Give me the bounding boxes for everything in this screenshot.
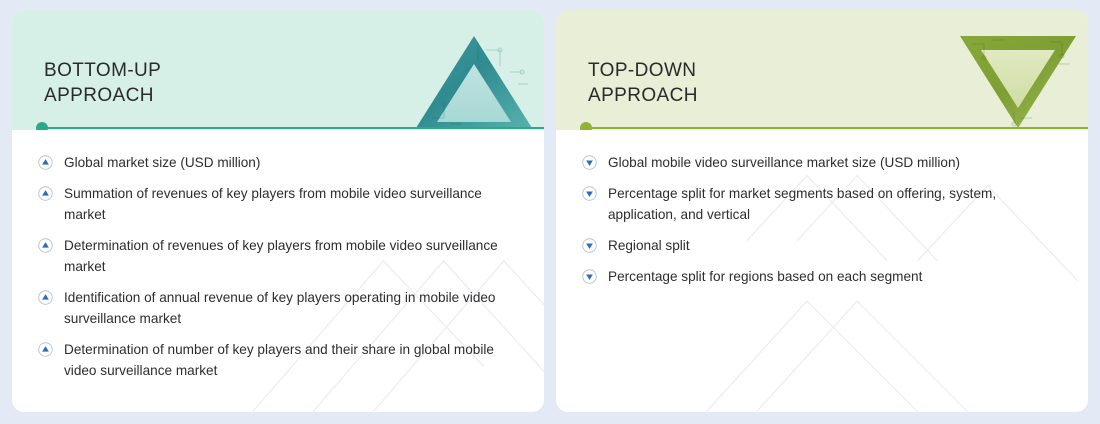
list-item: Determination of number of key players a…	[38, 339, 518, 381]
panel-bottom-up: BOTTOM-UP APPROACH Global market size (U…	[12, 10, 544, 412]
panel-title-top-down: TOP-DOWN APPROACH	[588, 58, 698, 108]
list-item-text: Regional split	[608, 235, 690, 256]
panel-top-down: TOP-DOWN APPROACH Global mobile video su…	[556, 10, 1088, 412]
panel-title-bottom-up: BOTTOM-UP APPROACH	[44, 58, 161, 108]
list-item-text: Global mobile video surveillance market …	[608, 152, 960, 173]
header-band-bottom-up: BOTTOM-UP APPROACH	[12, 10, 544, 130]
list-item: Determination of revenues of key players…	[38, 235, 518, 277]
list-item: Percentage split for market segments bas…	[582, 183, 1062, 225]
triangle-down-circle-icon	[582, 155, 597, 170]
list-item: Global market size (USD million)	[38, 152, 518, 173]
list-item: Regional split	[582, 235, 1062, 256]
triangle-up-circle-icon	[38, 155, 53, 170]
accent-rule-bottom-up	[36, 122, 544, 130]
header-band-top-down: TOP-DOWN APPROACH	[556, 10, 1088, 130]
triangle-up-circle-icon	[38, 290, 53, 305]
triangle-down-circle-icon	[582, 186, 597, 201]
accent-line	[592, 127, 1088, 129]
list-item: Summation of revenues of key players fro…	[38, 183, 518, 225]
list-item: Global mobile video surveillance market …	[582, 152, 1062, 173]
list-item-text: Percentage split for market segments bas…	[608, 183, 1062, 225]
list-item: Percentage split for regions based on ea…	[582, 266, 1062, 287]
accent-dot	[36, 122, 48, 130]
bullet-list-bottom-up: Global market size (USD million) Summati…	[12, 130, 544, 401]
list-item-text: Global market size (USD million)	[64, 152, 260, 173]
list-item-text: Determination of revenues of key players…	[64, 235, 518, 277]
accent-line	[48, 127, 544, 129]
list-item-text: Summation of revenues of key players fro…	[64, 183, 518, 225]
triangle-down-circle-icon	[582, 238, 597, 253]
upward-triangle-graphic	[414, 32, 534, 130]
list-item-text: Identification of annual revenue of key …	[64, 287, 518, 329]
approach-comparison-diagram: BOTTOM-UP APPROACH Global market size (U…	[0, 0, 1100, 424]
list-item-text: Determination of number of key players a…	[64, 339, 518, 381]
triangle-up-circle-icon	[38, 342, 53, 357]
triangle-up-circle-icon	[38, 186, 53, 201]
triangle-up-circle-icon	[38, 238, 53, 253]
downward-triangle-graphic	[958, 32, 1078, 130]
accent-rule-top-down	[580, 122, 1088, 130]
list-item: Identification of annual revenue of key …	[38, 287, 518, 329]
list-item-text: Percentage split for regions based on ea…	[608, 266, 922, 287]
bullet-list-top-down: Global mobile video surveillance market …	[556, 130, 1088, 307]
triangle-down-circle-icon	[582, 269, 597, 284]
accent-dot	[580, 122, 592, 130]
